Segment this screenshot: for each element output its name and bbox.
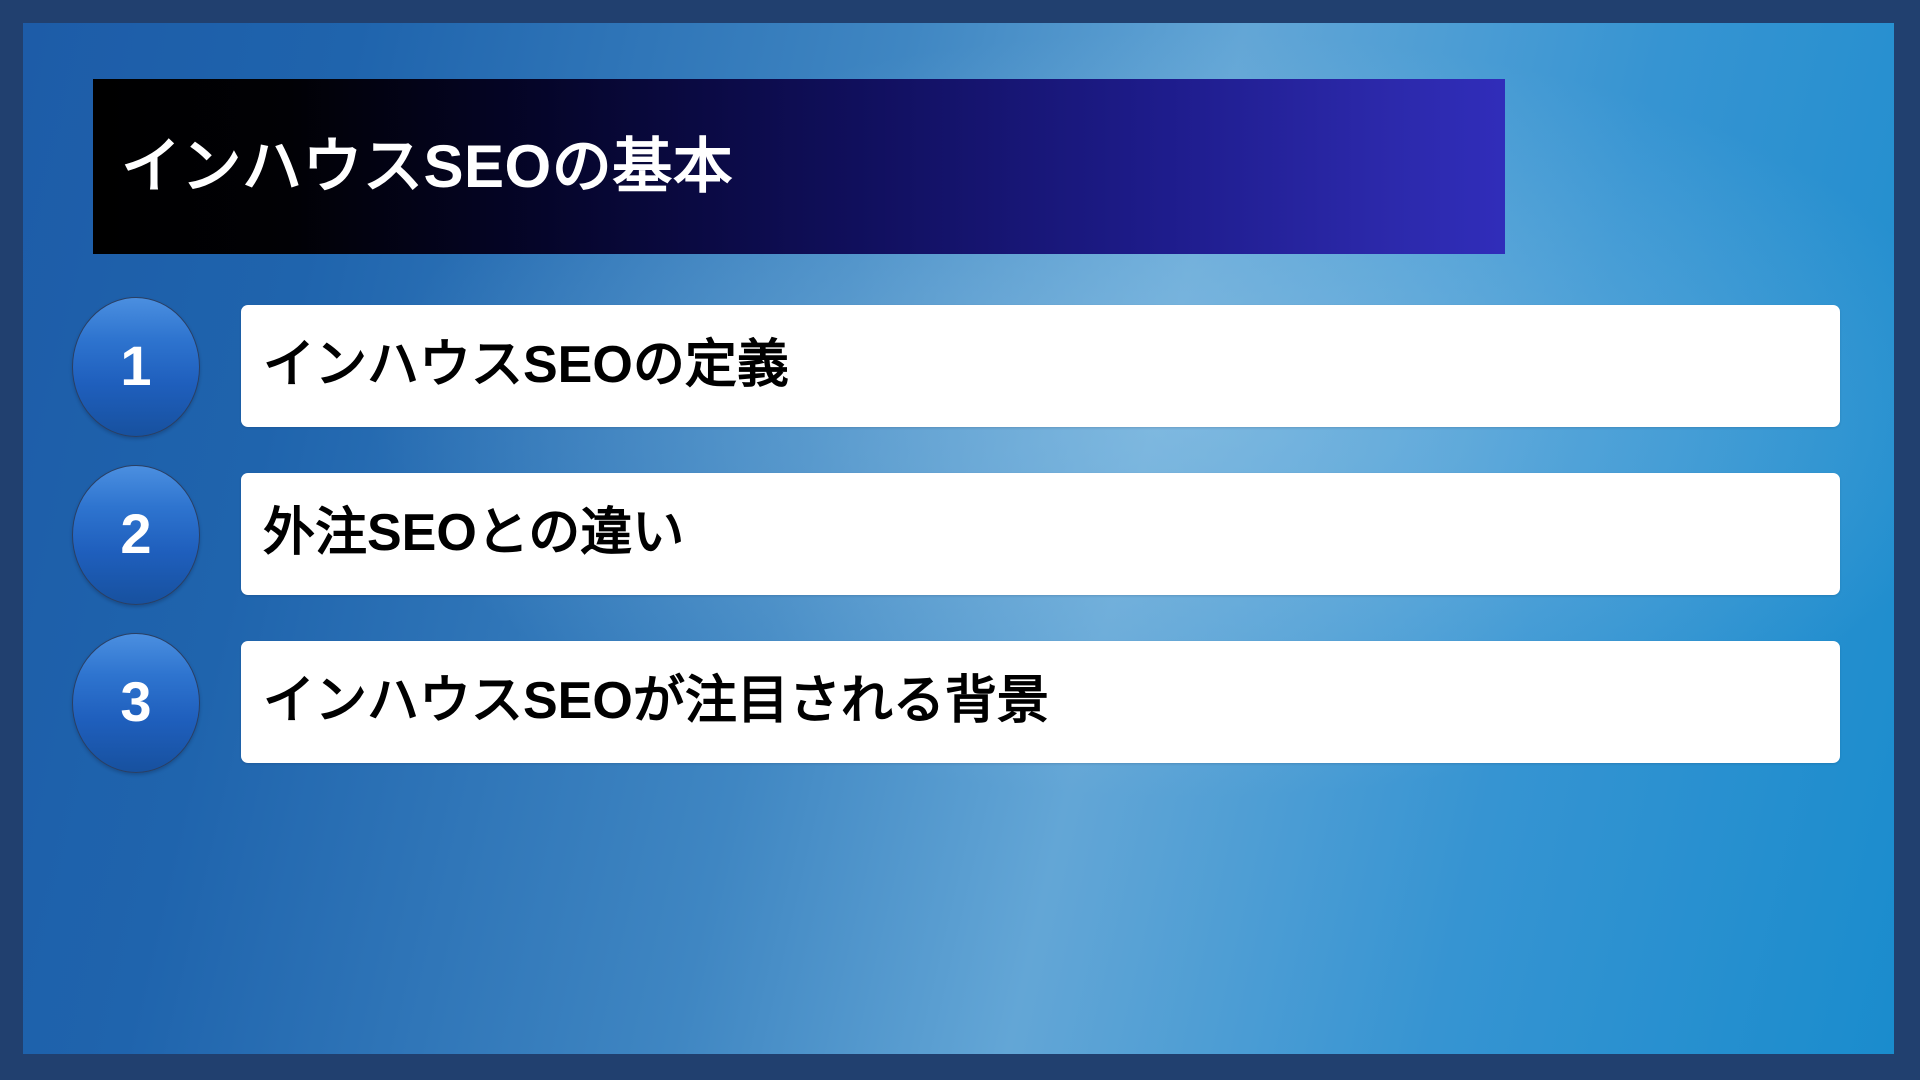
agenda-card-2[interactable]: 外注SEOとの違い	[241, 473, 1840, 595]
agenda-number-1: 1	[120, 338, 151, 394]
agenda-item-2[interactable]: 2 外注SEOとの違い	[23, 473, 1894, 595]
agenda-label-1: インハウスSEOの定義	[241, 336, 789, 396]
agenda-number-3: 3	[120, 674, 151, 730]
agenda-label-3: インハウスSEOが注目される背景	[241, 672, 1049, 732]
agenda-card-1[interactable]: インハウスSEOの定義	[241, 305, 1840, 427]
agenda-number-badge-1: 1	[72, 297, 200, 437]
slide-canvas: インハウスSEOの基本 1 インハウスSEOの定義 2 外注SEOとの違い	[23, 23, 1894, 1054]
agenda-number-badge-3: 3	[72, 633, 200, 773]
agenda-number-badge-2: 2	[72, 465, 200, 605]
slide-title: インハウスSEOの基本	[93, 134, 733, 200]
agenda-item-1[interactable]: 1 インハウスSEOの定義	[23, 305, 1894, 427]
agenda-card-3[interactable]: インハウスSEOが注目される背景	[241, 641, 1840, 763]
agenda-label-2: 外注SEOとの違い	[241, 504, 684, 564]
slide-title-bar: インハウスSEOの基本	[93, 79, 1505, 254]
agenda-item-3[interactable]: 3 インハウスSEOが注目される背景	[23, 641, 1894, 763]
slide-frame: インハウスSEOの基本 1 インハウスSEOの定義 2 外注SEOとの違い	[0, 0, 1920, 1080]
agenda-list: 1 インハウスSEOの定義 2 外注SEOとの違い 3 イン	[23, 305, 1894, 763]
agenda-number-2: 2	[120, 506, 151, 562]
